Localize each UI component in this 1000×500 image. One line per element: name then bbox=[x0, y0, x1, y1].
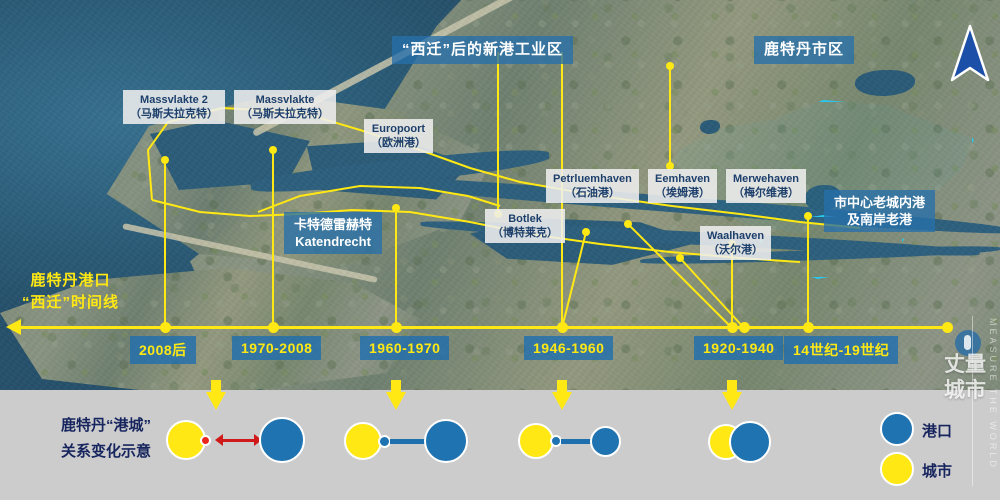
map-label-merwehaven[interactable]: Merwehaven （梅尔维港） bbox=[726, 169, 806, 203]
timeline-node[interactable] bbox=[942, 322, 953, 333]
label-cn: （马斯夫拉克特） bbox=[130, 107, 218, 121]
label-cn: （马斯夫拉克特） bbox=[241, 107, 329, 121]
label-cn: （埃姆港） bbox=[655, 186, 710, 200]
port-circle bbox=[259, 417, 305, 463]
city-circle bbox=[344, 422, 382, 460]
port-circle bbox=[590, 426, 621, 457]
timeline-node[interactable] bbox=[557, 322, 568, 333]
relationship-connector bbox=[390, 439, 428, 444]
port-circle bbox=[424, 419, 468, 463]
map-anchor-dot bbox=[624, 220, 632, 228]
legend-swatch-port bbox=[880, 412, 914, 446]
timeline-node[interactable] bbox=[739, 322, 750, 333]
timeline-title: 鹿特丹港口 “西迁”时间线 bbox=[22, 270, 119, 314]
label-cn: （欧洲港） bbox=[371, 136, 426, 150]
timeline-era-1920-1940[interactable]: 1920-1940 bbox=[694, 336, 783, 360]
label-en: Massvlakte 2 bbox=[130, 93, 218, 107]
timeline-title-line1: 鹿特丹港口 bbox=[22, 270, 119, 292]
map-anchor-dot bbox=[666, 62, 674, 70]
map-anchor-dot bbox=[269, 146, 277, 154]
callout-rotterdam-urban-area[interactable]: 鹿特丹市区 bbox=[754, 36, 854, 64]
label-en: Merwehaven bbox=[733, 172, 799, 186]
map-label-waalhaven[interactable]: Waalhaven （沃尔港） bbox=[700, 226, 771, 260]
map-anchor-dot bbox=[582, 228, 590, 236]
timeline-era-14c-19c[interactable]: 14世纪-19世纪 bbox=[784, 336, 898, 364]
label-en: Petrluemhaven bbox=[553, 172, 632, 186]
callout-katendrecht[interactable]: 卡特德雷赫特 Katendrecht bbox=[284, 212, 382, 254]
satellite-map: Massvlakte 2 （马斯夫拉克特） Massvlakte （马斯夫拉克特… bbox=[0, 0, 1000, 390]
map-label-petroleumhaven[interactable]: Petrluemhaven （石油港） bbox=[546, 169, 639, 203]
timeline-era-1970-2008[interactable]: 1970-2008 bbox=[232, 336, 321, 360]
legend-label-city: 城市 bbox=[922, 460, 952, 481]
map-label-europoort[interactable]: Europoort （欧洲港） bbox=[364, 119, 433, 153]
legend-swatch-city bbox=[880, 452, 914, 486]
label-en: Europoort bbox=[371, 122, 426, 136]
diagram-stage-2008-after[interactable] bbox=[160, 406, 290, 466]
relationship-connector bbox=[561, 439, 593, 444]
callout-line2: 及南岸老港 bbox=[834, 211, 925, 228]
north-arrow-icon bbox=[948, 24, 992, 86]
diagram-stage-1960-1970[interactable] bbox=[514, 406, 624, 466]
callout-en: Katendrecht bbox=[294, 233, 372, 250]
arrow-head-left-icon bbox=[215, 434, 223, 446]
callout-old-city-inner-port[interactable]: 市中心老城内港 及南岸老港 bbox=[824, 190, 935, 232]
callout-line1: 市中心老城内港 bbox=[834, 194, 925, 211]
map-anchor-dot bbox=[392, 204, 400, 212]
map-label-maasvlakte2[interactable]: Massvlakte 2 （马斯夫拉克特） bbox=[123, 90, 225, 124]
timeline-title-line2: “西迁”时间线 bbox=[22, 292, 119, 314]
diagram-stage-1920-1940[interactable] bbox=[700, 406, 780, 466]
port-node-dot bbox=[200, 435, 211, 446]
callout-cn: 卡特德雷赫特 bbox=[294, 216, 372, 233]
timeline-node[interactable] bbox=[391, 322, 402, 333]
map-anchor-dot bbox=[804, 212, 812, 220]
timeline-node[interactable] bbox=[160, 322, 171, 333]
timeline-era-1960-1970[interactable]: 1960-1970 bbox=[360, 336, 449, 360]
legend-label-port: 港口 bbox=[922, 420, 952, 441]
timeline-node[interactable] bbox=[727, 322, 738, 333]
infographic-root: Massvlakte 2 （马斯夫拉克特） Massvlakte （马斯夫拉克特… bbox=[0, 0, 1000, 500]
timeline-era-2008-after[interactable]: 2008后 bbox=[130, 336, 196, 364]
map-label-eemhaven[interactable]: Eemhaven （埃姆港） bbox=[648, 169, 717, 203]
label-cn: （梅尔维港） bbox=[733, 186, 799, 200]
timeline-node[interactable] bbox=[803, 322, 814, 333]
label-en: Eemhaven bbox=[655, 172, 710, 186]
diagram-stage-1970-2008[interactable] bbox=[340, 406, 460, 466]
label-en: Waalhaven bbox=[707, 229, 764, 243]
label-en: Massvlakte bbox=[241, 93, 329, 107]
label-en: Botlek bbox=[492, 212, 558, 226]
timeline-node[interactable] bbox=[268, 322, 279, 333]
city-circle bbox=[518, 423, 554, 459]
port-circle bbox=[729, 421, 771, 463]
label-cn: （博特莱克） bbox=[492, 226, 558, 240]
label-cn: （石油港） bbox=[553, 186, 632, 200]
map-anchor-dot bbox=[161, 156, 169, 164]
timeline-era-1946-1960[interactable]: 1946-1960 bbox=[524, 336, 613, 360]
map-anchor-dot bbox=[676, 254, 684, 262]
timeline-arrow-head bbox=[6, 319, 21, 335]
map-label-maasvlakte[interactable]: Massvlakte （马斯夫拉克特） bbox=[234, 90, 336, 124]
map-label-botlek[interactable]: Botlek （博特莱克） bbox=[485, 209, 565, 243]
label-cn: （沃尔港） bbox=[707, 243, 764, 257]
callout-new-port-industrial-zone[interactable]: “西迁”后的新港工业区 bbox=[392, 36, 573, 64]
watermark-text-en: MEASURE THE WORLD bbox=[976, 318, 998, 470]
